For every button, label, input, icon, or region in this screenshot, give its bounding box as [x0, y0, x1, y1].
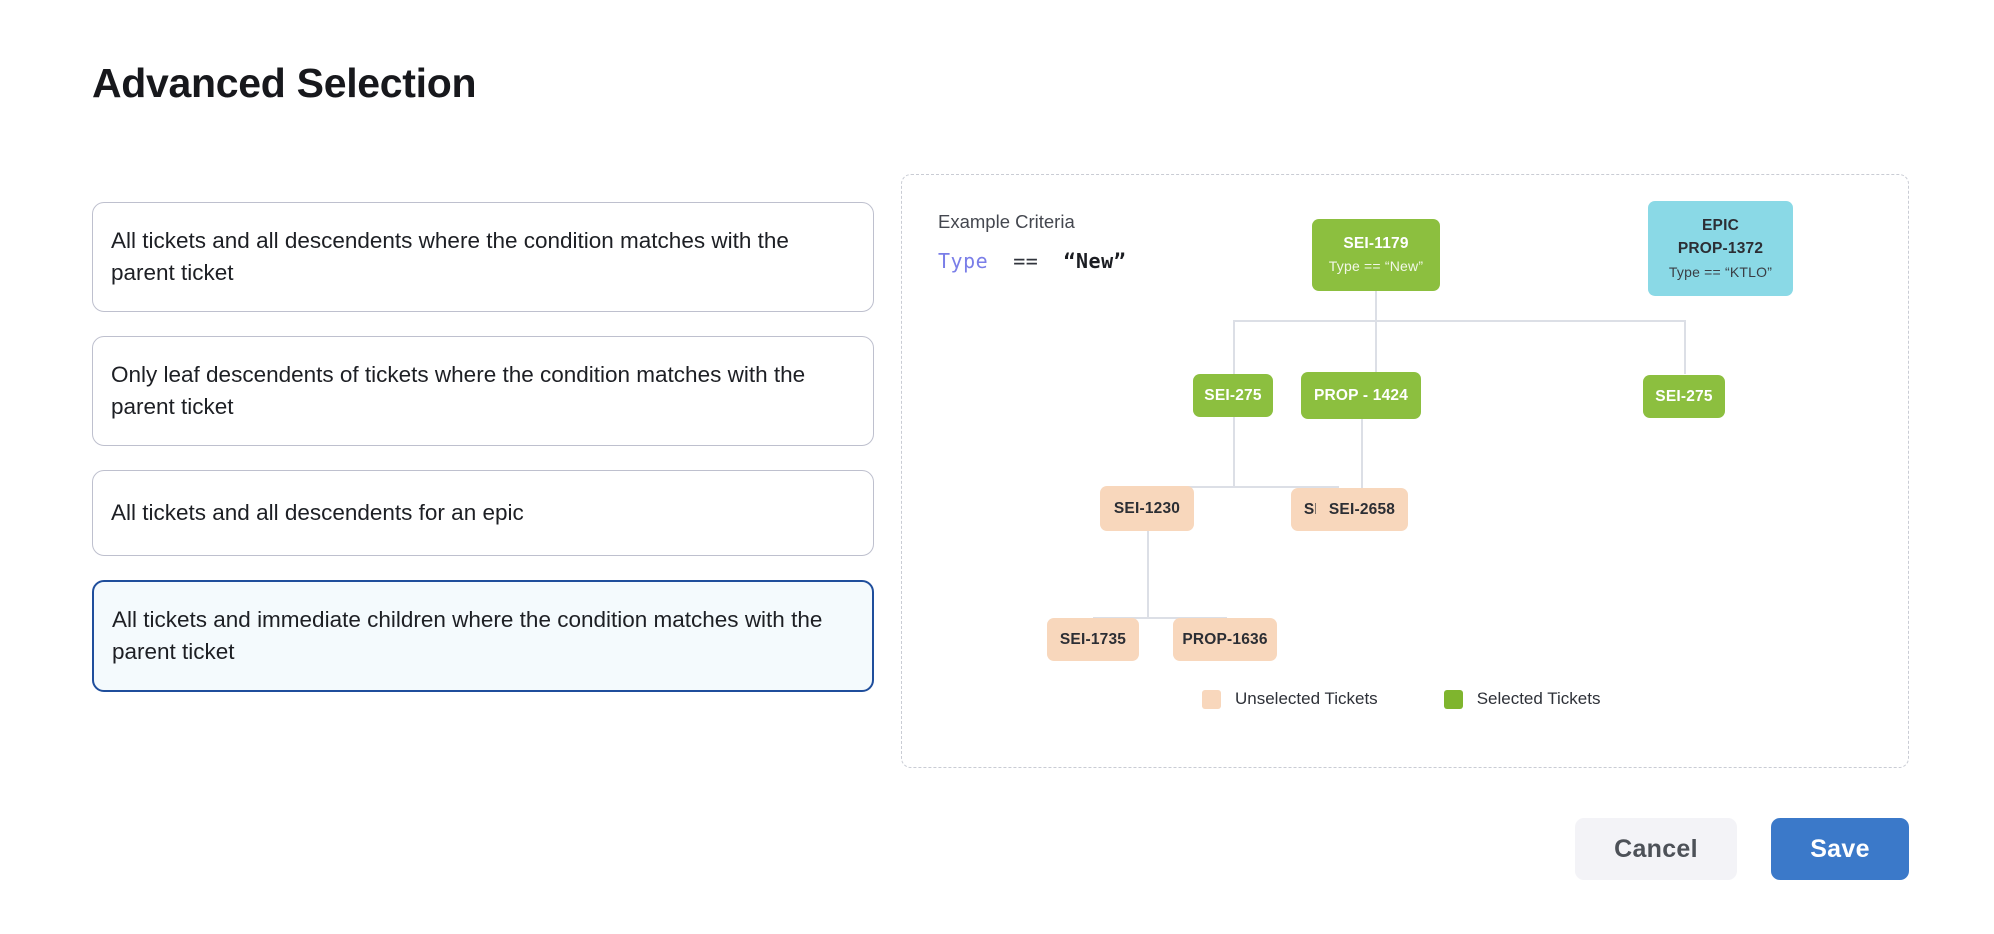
node-subtitle: Type == “New”	[1329, 255, 1423, 277]
option-card-all-descendents[interactable]: All tickets and all descendents where th…	[92, 202, 874, 312]
criteria-field: Type	[938, 249, 988, 273]
criteria-block: Example Criteria Type == “New”	[938, 211, 1126, 273]
save-button[interactable]: Save	[1771, 818, 1909, 880]
footer-actions: Cancel Save	[1575, 818, 1909, 880]
option-card-epic-descendents[interactable]: All tickets and all descendents for an e…	[92, 470, 874, 556]
node-sei-1179[interactable]: SEI-1179 Type == “New”	[1312, 219, 1440, 291]
node-sei-275-left[interactable]: SEI-275	[1193, 374, 1273, 417]
connector-to-sei275a	[1233, 320, 1235, 374]
legend-item-unselected: Unselected Tickets	[1202, 689, 1378, 709]
criteria-expression: Type == “New”	[938, 249, 1126, 273]
legend-swatch-unselected-icon	[1202, 690, 1221, 709]
node-label: PROP - 1424	[1314, 384, 1408, 407]
node-ticket-id: PROP-1372	[1678, 237, 1763, 260]
legend-swatch-selected-icon	[1444, 690, 1463, 709]
node-label: SEI-1230	[1114, 497, 1180, 520]
connector-row1-bus	[1233, 320, 1685, 322]
example-diagram-panel: Example Criteria Type == “New” SEI-1179 …	[901, 174, 1909, 768]
node-sei-1230[interactable]: SEI-1230	[1100, 486, 1194, 531]
selection-options-list: All tickets and all descendents where th…	[92, 202, 874, 716]
node-label: SEI-275	[1204, 384, 1261, 407]
node-label: EPIC	[1702, 214, 1739, 237]
cancel-button[interactable]: Cancel	[1575, 818, 1737, 880]
criteria-value: “New”	[1063, 249, 1126, 273]
node-sei-275-right[interactable]: SEI-275	[1643, 375, 1725, 418]
option-card-immediate-children[interactable]: All tickets and immediate children where…	[92, 580, 874, 692]
node-label: SEI-1735	[1060, 628, 1126, 651]
node-sei-1735-bottom[interactable]: SEI-1735	[1047, 618, 1139, 661]
legend-label: Selected Tickets	[1477, 689, 1601, 709]
node-label: SEI-2658	[1329, 498, 1395, 521]
option-label: All tickets and all descendents where th…	[111, 228, 789, 285]
node-prop-1636[interactable]: PROP-1636	[1173, 618, 1277, 661]
criteria-label: Example Criteria	[938, 211, 1126, 233]
option-label: All tickets and immediate children where…	[112, 607, 822, 664]
legend-label: Unselected Tickets	[1235, 689, 1378, 709]
node-prop-1424[interactable]: PROP - 1424	[1301, 372, 1421, 419]
node-label: SEI-275	[1655, 385, 1712, 408]
node-subtitle: Type == “KTLO”	[1669, 261, 1772, 283]
option-label: All tickets and all descendents for an e…	[111, 500, 524, 525]
node-label: SEI-1179	[1343, 232, 1408, 255]
connector-to-sei275b	[1684, 320, 1686, 374]
option-label: Only leaf descendents of tickets where t…	[111, 362, 805, 419]
page-title: Advanced Selection	[92, 60, 476, 107]
node-epic-prop-1372[interactable]: EPIC PROP-1372 Type == “KTLO”	[1648, 201, 1793, 296]
option-card-leaf-descendents[interactable]: Only leaf descendents of tickets where t…	[92, 336, 874, 446]
criteria-operator: ==	[1013, 249, 1038, 273]
node-sei-2658[interactable]: SEI-2658	[1316, 488, 1408, 531]
advanced-selection-dialog: Advanced Selection All tickets and all d…	[0, 0, 1994, 934]
node-label: PROP-1636	[1182, 628, 1267, 651]
diagram-legend: Unselected Tickets Selected Tickets	[1202, 689, 1600, 709]
legend-item-selected: Selected Tickets	[1444, 689, 1601, 709]
